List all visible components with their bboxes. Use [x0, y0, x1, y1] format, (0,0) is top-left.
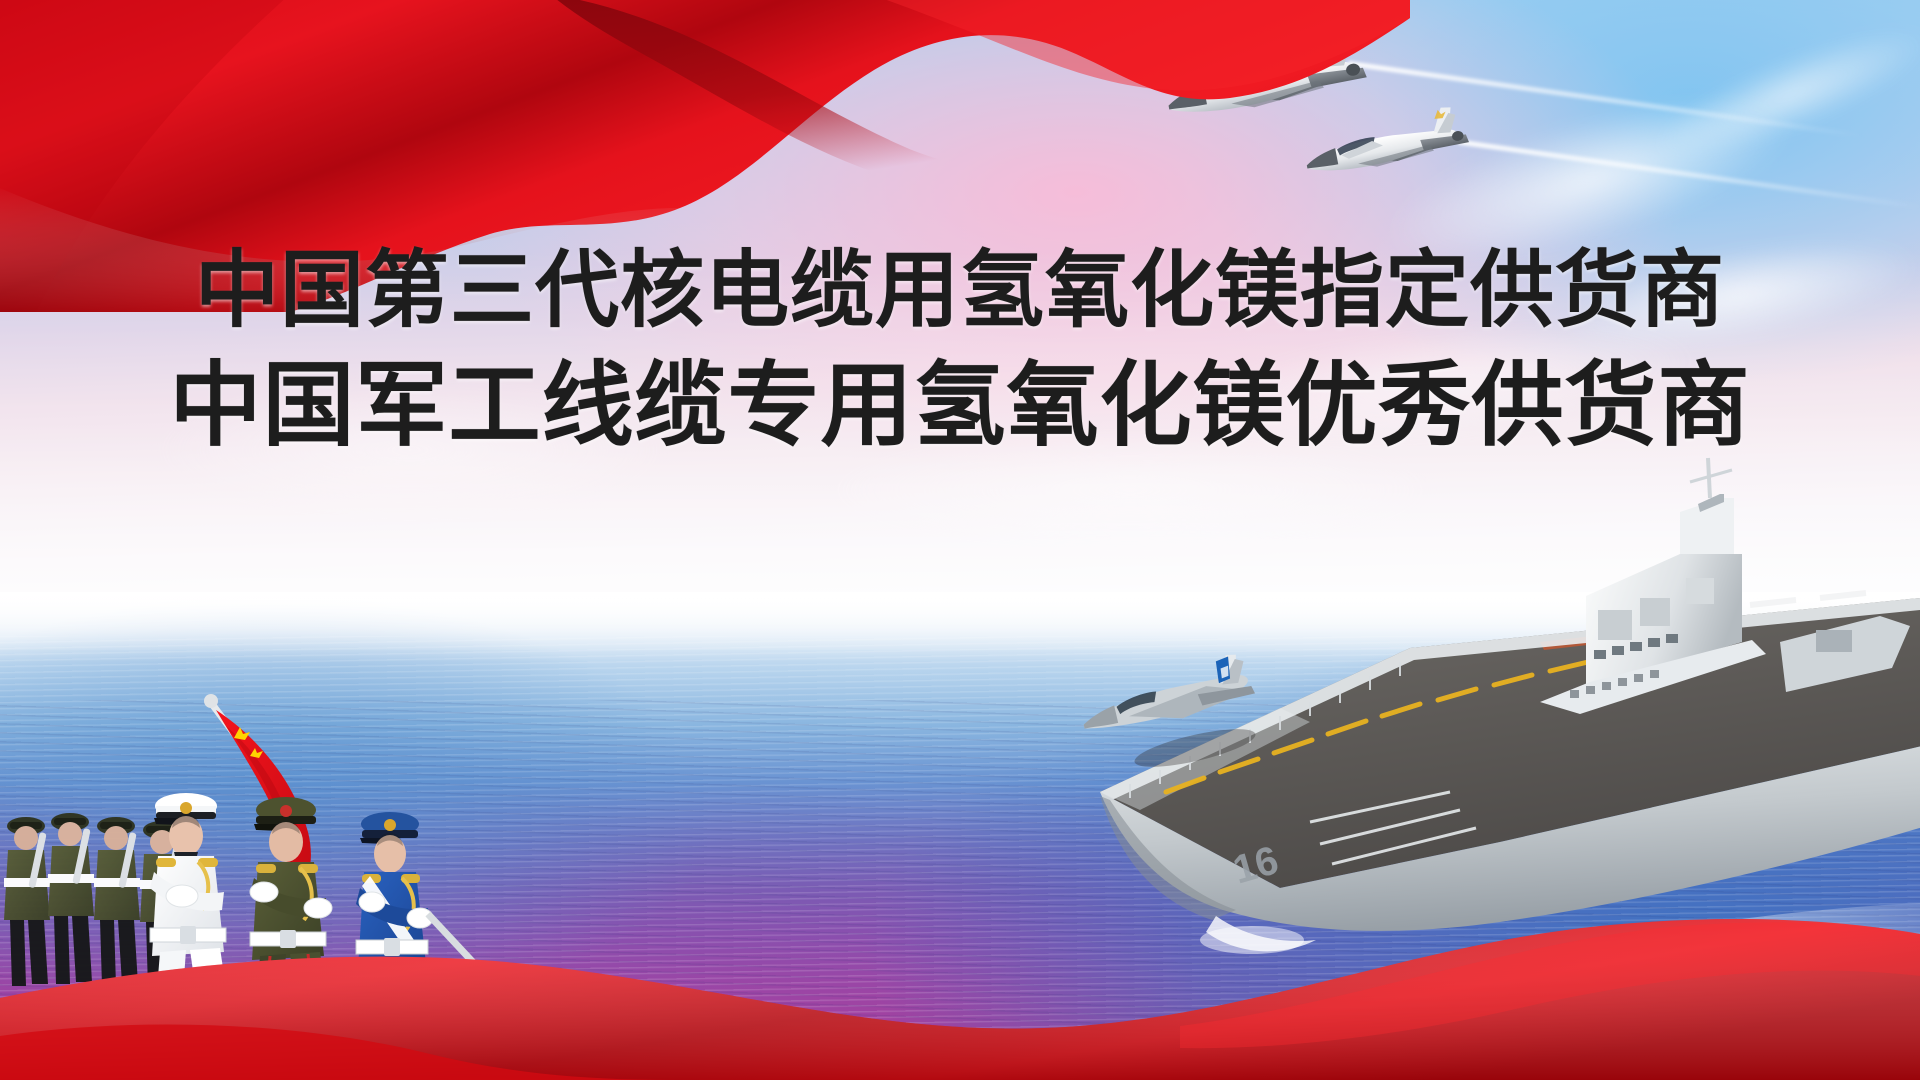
banner-canvas: 中国第三代核电缆用氢氧化镁指定供货商 中国军工线缆专用氢氧化镁优秀供货商 [0, 0, 1920, 1080]
waving-red-flag [0, 0, 1410, 314]
red-ribbon-wave [0, 840, 1920, 1080]
carrier-borne-jet [1076, 650, 1257, 740]
